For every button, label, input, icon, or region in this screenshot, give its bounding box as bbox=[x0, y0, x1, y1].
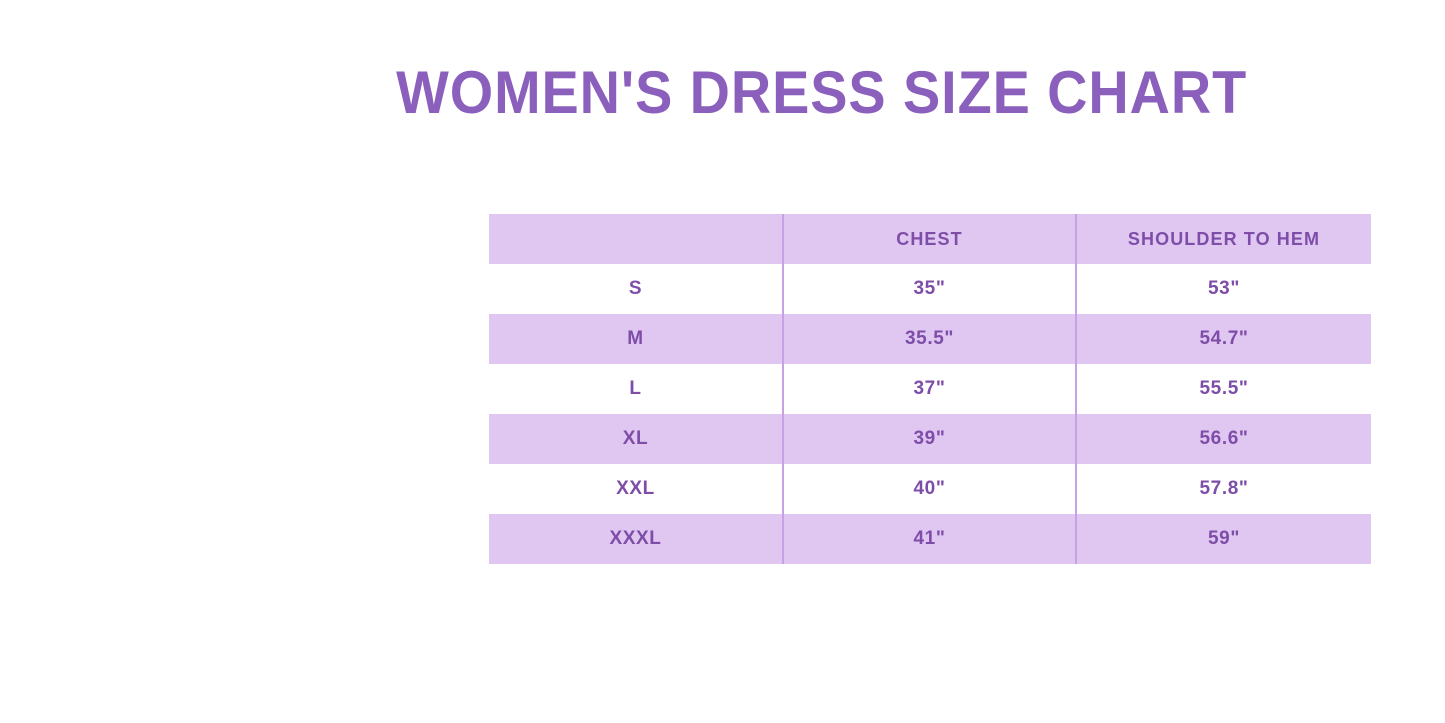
table-row: L 37" 55.5" bbox=[489, 364, 1371, 414]
table-row: S 35" 53" bbox=[489, 264, 1371, 314]
cell-shoulder-to-hem: 56.6" bbox=[1076, 414, 1371, 464]
cell-size: XXXL bbox=[489, 514, 783, 564]
cell-shoulder-to-hem: 55.5" bbox=[1076, 364, 1371, 414]
table-row: M 35.5" 54.7" bbox=[489, 314, 1371, 364]
cell-size: S bbox=[489, 264, 783, 314]
column-header-chest: CHEST bbox=[783, 214, 1076, 264]
page-title: WOMEN'S DRESS SIZE CHART bbox=[0, 58, 1445, 128]
cell-chest: 35" bbox=[783, 264, 1076, 314]
table-row: XXXL 41" 59" bbox=[489, 514, 1371, 564]
cell-chest: 40" bbox=[783, 464, 1076, 514]
column-header-shoulder-to-hem: SHOULDER TO HEM bbox=[1076, 214, 1371, 264]
table-row: XL 39" 56.6" bbox=[489, 414, 1371, 464]
cell-shoulder-to-hem: 54.7" bbox=[1076, 314, 1371, 364]
cell-size: L bbox=[489, 364, 783, 414]
size-chart-page: WOMEN'S DRESS SIZE CHART CHEST SHOULDER … bbox=[0, 0, 1445, 723]
cell-chest: 35.5" bbox=[783, 314, 1076, 364]
table-row: XXL 40" 57.8" bbox=[489, 464, 1371, 514]
cell-chest: 37" bbox=[783, 364, 1076, 414]
cell-shoulder-to-hem: 57.8" bbox=[1076, 464, 1371, 514]
cell-size: M bbox=[489, 314, 783, 364]
column-header-size bbox=[489, 214, 783, 264]
cell-chest: 39" bbox=[783, 414, 1076, 464]
cell-size: XXL bbox=[489, 464, 783, 514]
cell-shoulder-to-hem: 59" bbox=[1076, 514, 1371, 564]
cell-chest: 41" bbox=[783, 514, 1076, 564]
cell-shoulder-to-hem: 53" bbox=[1076, 264, 1371, 314]
table-header-row: CHEST SHOULDER TO HEM bbox=[489, 214, 1371, 264]
size-chart-table: CHEST SHOULDER TO HEM S 35" 53" M 35.5" … bbox=[489, 214, 1371, 564]
cell-size: XL bbox=[489, 414, 783, 464]
